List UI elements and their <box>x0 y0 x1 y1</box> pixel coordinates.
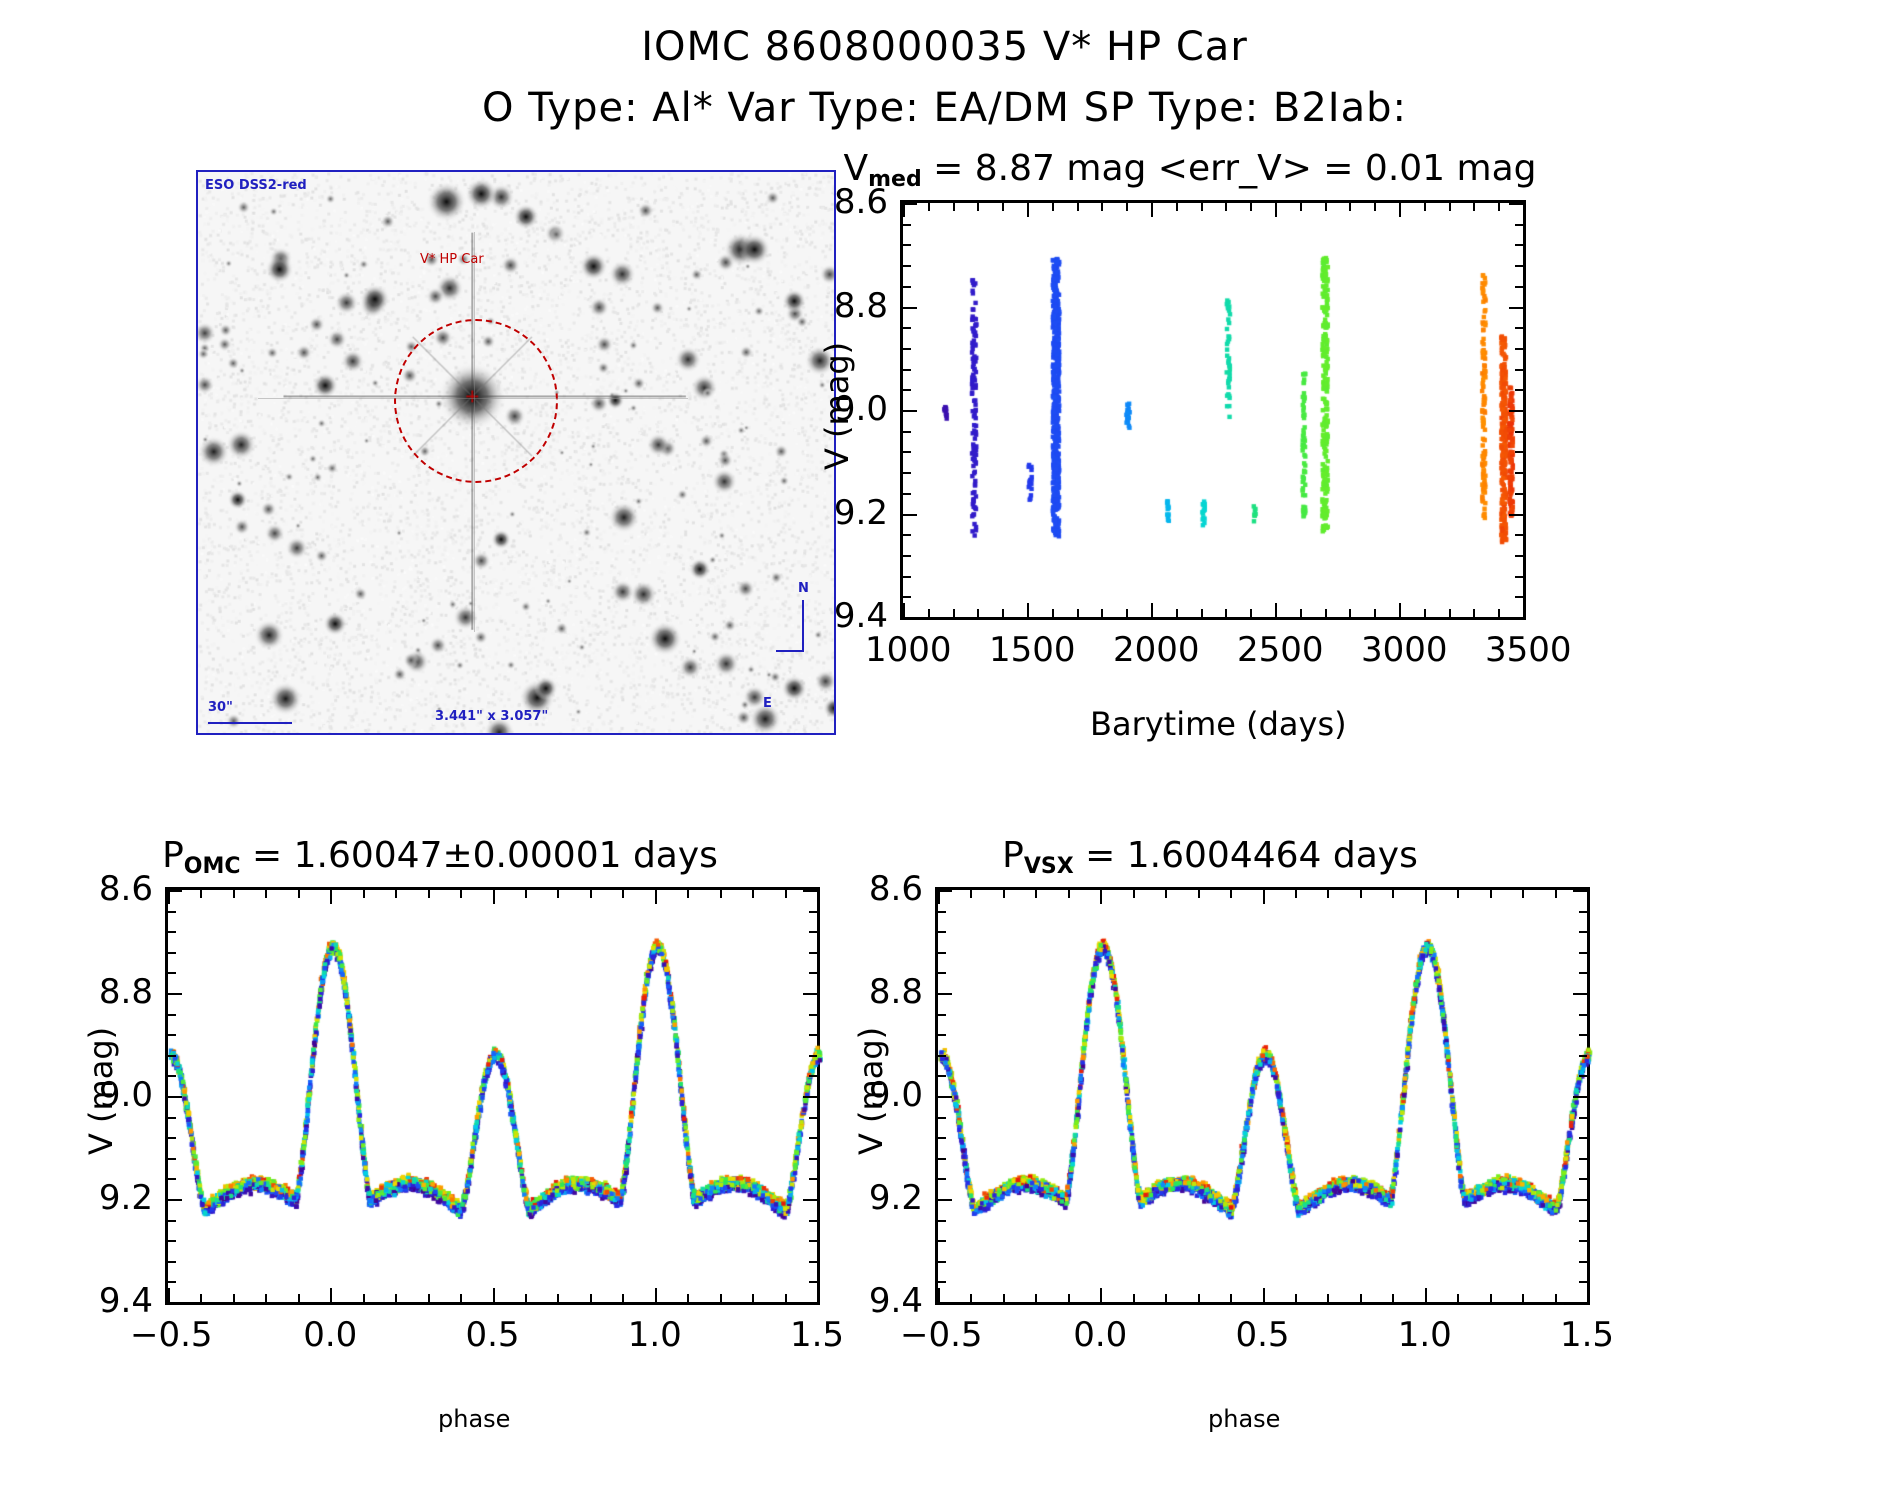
y-tick <box>168 993 182 995</box>
x-minor-tick <box>1250 609 1252 617</box>
x-tick <box>1151 603 1153 617</box>
y-minor-tick <box>1579 1178 1587 1180</box>
x-minor-tick <box>1201 609 1203 617</box>
x-minor-tick <box>970 890 972 898</box>
x-minor-tick <box>233 1294 235 1302</box>
x-minor-tick <box>1457 890 1459 898</box>
pvsx-value-text: = 1.6004464 days <box>1074 835 1418 876</box>
y-minor-tick <box>1579 1014 1587 1016</box>
y-tick <box>168 1096 182 1098</box>
x-minor-tick <box>1198 890 1200 898</box>
vmed-value-text: = 8.87 mag <err_V> = 0.01 mag <box>922 148 1537 189</box>
y-tick <box>903 307 917 309</box>
y-tick-label: 8.6 <box>800 182 888 222</box>
x-minor-tick <box>1392 1294 1394 1302</box>
x-minor-tick <box>298 890 300 898</box>
object-label: V* HP Car <box>420 252 484 267</box>
x-minor-tick <box>395 1294 397 1302</box>
x-minor-tick <box>1133 1294 1135 1302</box>
y-minor-tick <box>938 952 946 954</box>
x-minor-tick <box>1002 609 1004 617</box>
x-minor-tick <box>1068 890 1070 898</box>
y-minor-tick <box>1579 952 1587 954</box>
y-tick-label: 8.8 <box>65 972 153 1012</box>
y-minor-tick <box>1579 1034 1587 1036</box>
x-minor-tick <box>1225 609 1227 617</box>
x-tick-label: 0.5 <box>455 1315 531 1355</box>
x-minor-tick <box>1176 609 1178 617</box>
crosshair-horizontal <box>258 398 688 399</box>
x-tick-label: 1.5 <box>779 1315 855 1355</box>
y-minor-tick <box>903 348 911 350</box>
phase-omc-title: POMC = 1.60047±0.00001 days <box>60 835 820 876</box>
x-minor-tick <box>1230 1294 1232 1302</box>
x-minor-tick <box>622 1294 624 1302</box>
y-minor-tick <box>168 911 176 913</box>
y-minor-tick <box>903 327 911 329</box>
y-minor-tick <box>938 1261 946 1263</box>
y-tick-label: 8.6 <box>835 869 923 909</box>
y-tick <box>803 1302 817 1304</box>
x-minor-tick <box>265 890 267 898</box>
y-minor-tick <box>809 972 817 974</box>
y-tick <box>938 1199 952 1201</box>
y-tick <box>938 890 952 892</box>
x-tick <box>1523 603 1525 617</box>
y-tick-label: 9.2 <box>800 493 888 533</box>
x-minor-tick <box>1052 203 1054 211</box>
y-tick <box>1509 514 1523 516</box>
x-minor-tick <box>1126 203 1128 211</box>
y-tick <box>1509 410 1523 412</box>
x-minor-tick <box>1295 890 1297 898</box>
x-minor-tick <box>970 1294 972 1302</box>
x-tick <box>655 890 657 904</box>
x-minor-tick <box>953 609 955 617</box>
x-minor-tick <box>395 890 397 898</box>
lightcurve-x-axis-label: Barytime (days) <box>1090 705 1347 743</box>
y-tick <box>1573 993 1587 995</box>
x-minor-tick <box>1522 890 1524 898</box>
pomc-value-text: = 1.60047±0.00001 days <box>241 835 718 876</box>
y-minor-tick <box>938 972 946 974</box>
x-minor-tick <box>1327 1294 1329 1302</box>
y-minor-tick <box>903 286 911 288</box>
y-tick-label: 9.2 <box>835 1178 923 1218</box>
y-minor-tick <box>168 972 176 974</box>
y-tick <box>803 1096 817 1098</box>
y-minor-tick <box>1515 389 1523 391</box>
x-minor-tick <box>977 203 979 211</box>
y-minor-tick <box>168 1220 176 1222</box>
y-minor-tick <box>809 1240 817 1242</box>
x-minor-tick <box>1230 890 1232 898</box>
y-tick <box>903 203 917 205</box>
y-minor-tick <box>938 1075 946 1077</box>
y-minor-tick <box>1579 1055 1587 1057</box>
x-tick <box>817 890 819 904</box>
y-minor-tick <box>1515 348 1523 350</box>
y-minor-tick <box>903 369 911 371</box>
y-minor-tick <box>1515 451 1523 453</box>
x-minor-tick <box>1002 203 1004 211</box>
x-minor-tick <box>785 1294 787 1302</box>
y-minor-tick <box>1579 1117 1587 1119</box>
x-minor-tick <box>1555 890 1557 898</box>
crosshair-vertical <box>474 232 475 632</box>
x-minor-tick <box>1198 1294 1200 1302</box>
x-minor-tick <box>1490 890 1492 898</box>
x-minor-tick <box>1349 609 1351 617</box>
x-minor-tick <box>785 890 787 898</box>
lightcurve-title: Vmed = 8.87 mag <err_V> = 0.01 mag <box>840 148 1540 189</box>
x-tick <box>1399 603 1401 617</box>
x-minor-tick <box>460 1294 462 1302</box>
y-tick-label: 9.4 <box>65 1281 153 1321</box>
y-tick <box>903 617 917 619</box>
phase-vsx-panel: PVSX = 1.6004464 days V (mag) phase <box>830 835 1590 1455</box>
x-tick-label: 1.0 <box>617 1315 693 1355</box>
y-minor-tick <box>1579 1220 1587 1222</box>
x-minor-tick <box>1035 890 1037 898</box>
y-minor-tick <box>1579 1281 1587 1283</box>
x-tick <box>493 1288 495 1302</box>
x-tick <box>903 203 905 217</box>
y-tick <box>1573 1302 1587 1304</box>
y-tick <box>1509 307 1523 309</box>
y-tick <box>168 890 182 892</box>
y-minor-tick <box>1515 265 1523 267</box>
y-minor-tick <box>1579 911 1587 913</box>
x-tick <box>1027 203 1029 217</box>
x-minor-tick <box>1035 1294 1037 1302</box>
north-label: N <box>798 581 809 596</box>
x-minor-tick <box>1295 1294 1297 1302</box>
y-minor-tick <box>809 1158 817 1160</box>
x-tick <box>1275 603 1277 617</box>
x-minor-tick <box>1490 1294 1492 1302</box>
y-tick <box>168 1199 182 1201</box>
y-minor-tick <box>809 1117 817 1119</box>
survey-label: ESO DSS2-red <box>205 178 307 193</box>
y-minor-tick <box>1515 286 1523 288</box>
x-minor-tick <box>1392 890 1394 898</box>
x-tick-label: −0.5 <box>130 1315 206 1355</box>
x-minor-tick <box>1374 609 1376 617</box>
y-minor-tick <box>168 1137 176 1139</box>
x-minor-tick <box>1498 203 1500 211</box>
phase-vsx-plot-area[interactable] <box>935 887 1590 1305</box>
scalebar <box>208 722 292 724</box>
x-minor-tick <box>1374 203 1376 211</box>
y-minor-tick <box>168 931 176 933</box>
y-tick <box>903 410 917 412</box>
y-minor-tick <box>938 1158 946 1160</box>
y-minor-tick <box>809 931 817 933</box>
y-tick-label: 9.0 <box>800 389 888 429</box>
y-tick <box>803 1199 817 1201</box>
x-minor-tick <box>1165 1294 1167 1302</box>
x-minor-tick <box>1003 890 1005 898</box>
x-minor-tick <box>590 1294 592 1302</box>
x-minor-tick <box>1052 609 1054 617</box>
y-minor-tick <box>1515 596 1523 598</box>
x-minor-tick <box>1176 203 1178 211</box>
phase-omc-panel: POMC = 1.60047±0.00001 days V (mag) phas… <box>60 835 820 1455</box>
x-tick <box>1587 890 1589 904</box>
y-minor-tick <box>903 244 911 246</box>
y-minor-tick <box>809 1261 817 1263</box>
x-tick-label: 1.5 <box>1549 1315 1625 1355</box>
y-minor-tick <box>809 1014 817 1016</box>
y-minor-tick <box>1515 576 1523 578</box>
y-minor-tick <box>1515 534 1523 536</box>
y-tick-label: 9.0 <box>835 1075 923 1115</box>
y-tick <box>1573 1096 1587 1098</box>
x-tick-label: 3500 <box>1485 630 1561 670</box>
y-minor-tick <box>903 224 911 226</box>
x-minor-tick <box>1225 203 1227 211</box>
x-minor-tick <box>720 890 722 898</box>
y-minor-tick <box>1515 493 1523 495</box>
east-label: E <box>763 696 772 711</box>
pvsx-subscript: VSX <box>1024 854 1074 879</box>
y-tick <box>1509 203 1523 205</box>
x-tick-label: 1.0 <box>1387 1315 1463 1355</box>
y-tick-label: 8.8 <box>800 286 888 326</box>
y-minor-tick <box>903 493 911 495</box>
page-subtitle: O Type: Al* Var Type: EA/DM SP Type: B2I… <box>0 85 1889 131</box>
x-minor-tick <box>1068 1294 1070 1302</box>
x-minor-tick <box>525 890 527 898</box>
y-minor-tick <box>1515 472 1523 474</box>
x-tick <box>1425 890 1427 904</box>
x-minor-tick <box>1250 203 1252 211</box>
x-minor-tick <box>1457 1294 1459 1302</box>
x-minor-tick <box>1165 890 1167 898</box>
y-minor-tick <box>168 952 176 954</box>
y-tick <box>1573 1199 1587 1201</box>
y-minor-tick <box>168 1034 176 1036</box>
y-minor-tick <box>168 1075 176 1077</box>
y-minor-tick <box>903 576 911 578</box>
x-minor-tick <box>1449 203 1451 211</box>
x-tick <box>938 890 940 904</box>
x-minor-tick <box>752 1294 754 1302</box>
x-tick-label: 3000 <box>1361 630 1437 670</box>
y-minor-tick <box>809 1281 817 1283</box>
y-minor-tick <box>938 1117 946 1119</box>
pixel-scale-label: 3.441" x 3.057" <box>435 709 548 724</box>
y-minor-tick <box>809 1220 817 1222</box>
x-minor-tick <box>590 890 592 898</box>
y-tick-label: 9.0 <box>65 1075 153 1115</box>
x-minor-tick <box>1133 890 1135 898</box>
x-tick <box>168 890 170 904</box>
y-minor-tick <box>1515 369 1523 371</box>
x-tick-label: 2500 <box>1237 630 1313 670</box>
y-minor-tick <box>938 1014 946 1016</box>
y-tick-label: 9.4 <box>835 1281 923 1321</box>
y-minor-tick <box>1579 1137 1587 1139</box>
y-minor-tick <box>903 596 911 598</box>
x-minor-tick <box>622 890 624 898</box>
y-minor-tick <box>168 1055 176 1057</box>
x-minor-tick <box>752 890 754 898</box>
x-minor-tick <box>720 1294 722 1302</box>
y-tick-label: 9.2 <box>65 1178 153 1218</box>
y-minor-tick <box>938 931 946 933</box>
y-minor-tick <box>1515 244 1523 246</box>
x-minor-tick <box>1101 609 1103 617</box>
x-tick <box>1027 603 1029 617</box>
x-minor-tick <box>525 1294 527 1302</box>
x-minor-tick <box>460 890 462 898</box>
y-minor-tick <box>809 1178 817 1180</box>
x-minor-tick <box>1300 203 1302 211</box>
x-tick <box>938 1288 940 1302</box>
y-minor-tick <box>938 911 946 913</box>
y-minor-tick <box>168 1178 176 1180</box>
y-minor-tick <box>809 1034 817 1036</box>
x-tick <box>1587 1288 1589 1302</box>
y-minor-tick <box>1579 972 1587 974</box>
y-minor-tick <box>903 534 911 536</box>
x-minor-tick <box>1101 203 1103 211</box>
x-tick <box>1100 1288 1102 1302</box>
y-minor-tick <box>903 265 911 267</box>
y-tick-label: 8.6 <box>65 869 153 909</box>
x-minor-tick <box>428 1294 430 1302</box>
y-minor-tick <box>168 1014 176 1016</box>
x-minor-tick <box>1360 1294 1362 1302</box>
x-minor-tick <box>1077 203 1079 211</box>
x-tick <box>1100 890 1102 904</box>
x-minor-tick <box>1473 609 1475 617</box>
y-minor-tick <box>168 1261 176 1263</box>
y-minor-tick <box>1579 1261 1587 1263</box>
y-minor-tick <box>938 1220 946 1222</box>
lightcurve-scatter <box>903 203 1529 623</box>
x-minor-tick <box>428 890 430 898</box>
compass-east-arm <box>776 650 804 652</box>
y-minor-tick <box>903 451 911 453</box>
x-minor-tick <box>233 890 235 898</box>
x-tick-label: 0.0 <box>292 1315 368 1355</box>
y-minor-tick <box>168 1281 176 1283</box>
y-minor-tick <box>168 1240 176 1242</box>
x-tick <box>330 890 332 904</box>
pomc-symbol: P <box>162 835 184 876</box>
phase-vsx-title: PVSX = 1.6004464 days <box>830 835 1590 876</box>
x-minor-tick <box>1300 609 1302 617</box>
x-minor-tick <box>200 1294 202 1302</box>
y-minor-tick <box>1515 224 1523 226</box>
y-tick <box>903 514 917 516</box>
x-minor-tick <box>1325 203 1327 211</box>
x-minor-tick <box>1077 609 1079 617</box>
x-minor-tick <box>557 890 559 898</box>
x-tick <box>1425 1288 1427 1302</box>
finder-chart-frame[interactable]: V* HP Car ESO DSS2-red 30" 3.441" x 3.05… <box>196 170 836 735</box>
y-minor-tick <box>938 1281 946 1283</box>
y-tick <box>1573 890 1587 892</box>
y-minor-tick <box>1579 1158 1587 1160</box>
x-minor-tick <box>1498 609 1500 617</box>
phase-vsx-scatter <box>938 890 1593 1308</box>
y-minor-tick <box>809 911 817 913</box>
pomc-subscript: OMC <box>184 854 241 879</box>
phase-omc-plot-area[interactable] <box>165 887 820 1305</box>
x-tick <box>493 890 495 904</box>
y-tick <box>938 1302 952 1304</box>
x-minor-tick <box>1349 203 1351 211</box>
y-minor-tick <box>809 1055 817 1057</box>
x-minor-tick <box>1555 1294 1557 1302</box>
x-tick <box>817 1288 819 1302</box>
x-minor-tick <box>1327 890 1329 898</box>
lightcurve-plot-area[interactable] <box>900 200 1526 620</box>
phase-omc-x-axis-label: phase <box>438 1405 510 1433</box>
y-minor-tick <box>903 472 911 474</box>
x-minor-tick <box>1449 609 1451 617</box>
y-minor-tick <box>903 389 911 391</box>
x-minor-tick <box>363 1294 365 1302</box>
y-tick-label: 9.4 <box>800 596 888 636</box>
y-minor-tick <box>1515 431 1523 433</box>
aperture-circle <box>394 319 558 483</box>
x-minor-tick <box>557 1294 559 1302</box>
x-minor-tick <box>200 890 202 898</box>
x-minor-tick <box>1473 203 1475 211</box>
y-minor-tick <box>809 1075 817 1077</box>
x-minor-tick <box>1201 203 1203 211</box>
x-minor-tick <box>953 203 955 211</box>
x-tick <box>655 1288 657 1302</box>
x-minor-tick <box>1325 609 1327 617</box>
x-tick <box>1523 203 1525 217</box>
y-tick <box>803 993 817 995</box>
y-tick <box>1509 617 1523 619</box>
x-minor-tick <box>687 1294 689 1302</box>
y-minor-tick <box>1579 931 1587 933</box>
x-tick-label: 1000 <box>865 630 941 670</box>
y-minor-tick <box>1579 1240 1587 1242</box>
x-minor-tick <box>687 890 689 898</box>
y-minor-tick <box>903 555 911 557</box>
x-tick <box>1151 203 1153 217</box>
x-minor-tick <box>1126 609 1128 617</box>
x-tick <box>1399 203 1401 217</box>
x-minor-tick <box>1424 609 1426 617</box>
x-minor-tick <box>1522 1294 1524 1302</box>
y-minor-tick <box>938 1178 946 1180</box>
y-tick <box>938 993 952 995</box>
x-minor-tick <box>1360 890 1362 898</box>
y-minor-tick <box>1515 327 1523 329</box>
x-tick <box>903 603 905 617</box>
y-minor-tick <box>809 1137 817 1139</box>
x-minor-tick <box>265 1294 267 1302</box>
y-tick-label: 8.8 <box>835 972 923 1012</box>
x-tick <box>330 1288 332 1302</box>
x-tick <box>168 1288 170 1302</box>
y-minor-tick <box>903 431 911 433</box>
x-tick-label: 0.5 <box>1225 1315 1301 1355</box>
y-tick <box>803 890 817 892</box>
y-minor-tick <box>168 1117 176 1119</box>
y-minor-tick <box>938 1137 946 1139</box>
